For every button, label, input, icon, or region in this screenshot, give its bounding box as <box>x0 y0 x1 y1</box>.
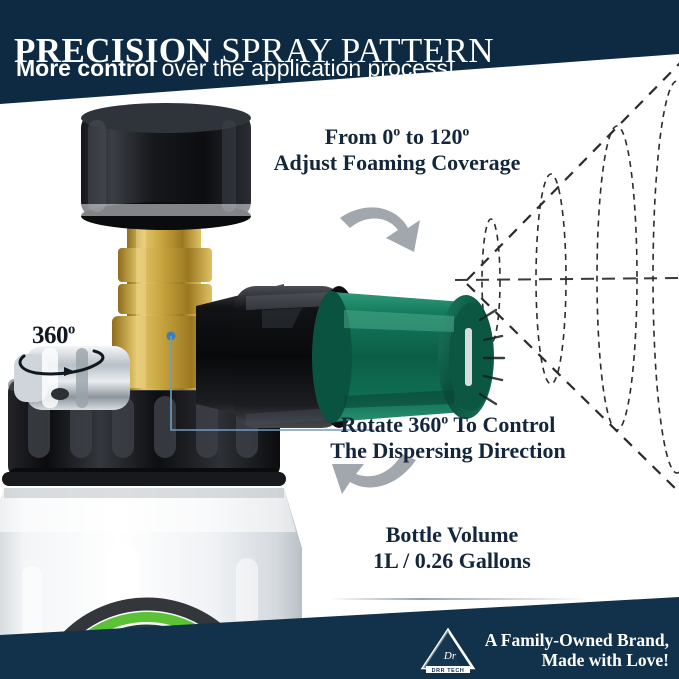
degree-symbol: o <box>68 322 75 338</box>
infographic-canvas: FOAM CANNON <box>0 0 679 679</box>
annotation-volume-line1: Bottle Volume <box>312 522 592 548</box>
angle-from-text: From 0 <box>325 124 394 149</box>
cone-ring-4 <box>653 81 679 473</box>
rotation-360-badge: 360o <box>14 322 110 374</box>
logo-monogram: Dr <box>443 650 457 662</box>
adjustment-knob <box>81 103 251 230</box>
annotation-rotation-line2: The Dispersing Direction <box>292 438 604 464</box>
rotation-360-value: 360 <box>32 322 68 349</box>
angle-to-text: to 120 <box>400 124 462 149</box>
degree-symbol: o <box>462 124 469 139</box>
logo-wordmark: DRR TECH <box>431 668 464 673</box>
page-subtitle: More control over the application proces… <box>16 55 454 82</box>
rotation-arrow-top <box>340 207 420 252</box>
annotation-volume-line2: 1L / 0.26 Gallons <box>312 548 592 574</box>
annotation-spray-angle: From 0o to 120o Adjust Foaming Coverage <box>232 124 562 177</box>
annotation-bottle-volume: Bottle Volume 1L / 0.26 Gallons <box>312 522 592 575</box>
dr-tech-logo-icon: Dr DRR TECH <box>420 627 476 673</box>
rotate-pre-text: Rotate 360 <box>341 412 442 437</box>
rotation-arrow-icon <box>14 348 110 376</box>
annotation-rotation: Rotate 360o To Control The Dispersing Di… <box>292 412 604 465</box>
subtitle-bold: More control <box>16 55 155 81</box>
brand-tagline-line2: Made with Love! <box>485 650 669 670</box>
annotation-spray-angle-line1: From 0o to 120o <box>232 124 562 150</box>
brand-tagline-line1: A Family-Owned Brand, <box>485 630 669 650</box>
annotation-spray-angle-line2: Adjust Foaming Coverage <box>232 150 562 176</box>
brand-lockup: Dr DRR TECH A Family-Owned Brand, Made w… <box>420 627 669 673</box>
section-divider <box>330 598 590 600</box>
rotation-360-label: 360o <box>32 322 75 350</box>
annotation-rotation-line1: Rotate 360o To Control <box>292 412 604 438</box>
rotate-post-text: To Control <box>448 412 555 437</box>
subtitle-light: over the application process! <box>155 55 454 81</box>
brand-tagline: A Family-Owned Brand, Made with Love! <box>485 630 669 671</box>
